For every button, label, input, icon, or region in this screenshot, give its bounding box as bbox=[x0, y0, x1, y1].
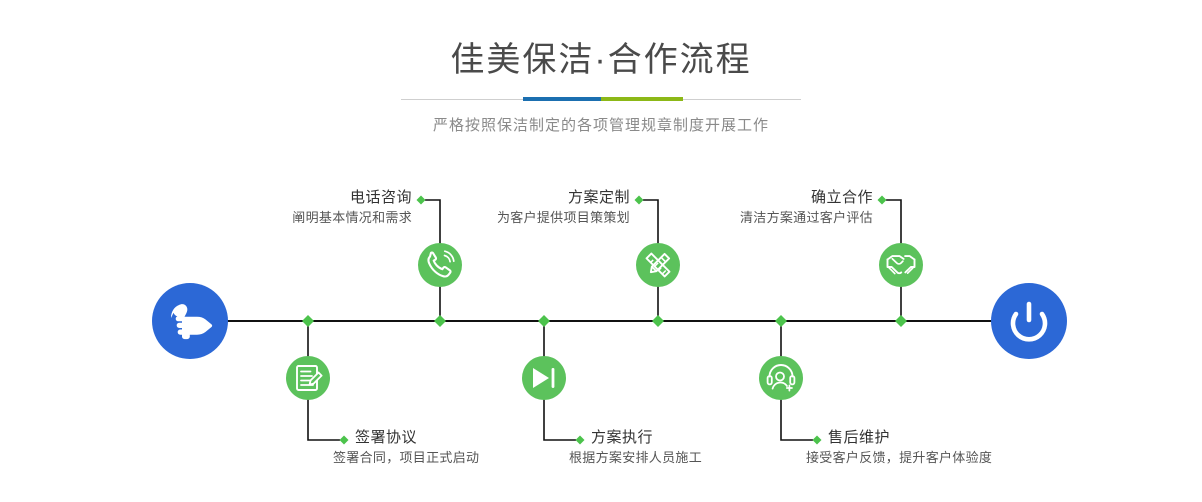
step-title-3: 方案定制 bbox=[497, 188, 630, 208]
label-diamond-3 bbox=[635, 196, 644, 205]
step-title-4: 方案执行 bbox=[591, 428, 724, 448]
step-title-5: 确立合作 bbox=[740, 188, 873, 208]
step-label-5: 确立合作 清洁方案通过客户评估 bbox=[740, 188, 873, 228]
step-label-3: 方案定制 为客户提供项目策策划 bbox=[497, 188, 630, 228]
step-icon-1[interactable] bbox=[418, 243, 462, 287]
flow-end-endpoint[interactable] bbox=[991, 283, 1067, 359]
node-diamond-3 bbox=[652, 315, 664, 327]
flow-svg bbox=[0, 0, 1202, 502]
label-diamond-5 bbox=[878, 196, 887, 205]
step-label-2: 签署协议 签署合同，项目正式启动 bbox=[355, 428, 501, 468]
node-diamond-4 bbox=[538, 315, 550, 327]
step-icon-4[interactable] bbox=[522, 356, 566, 400]
step-title-1: 电话咨询 bbox=[292, 188, 412, 208]
step-icon-2[interactable] bbox=[286, 356, 330, 400]
step-icon-5[interactable] bbox=[879, 243, 923, 287]
step-title-6: 售后维护 bbox=[828, 428, 1014, 448]
label-diamond-6 bbox=[813, 436, 822, 445]
node-diamond-6 bbox=[775, 315, 787, 327]
step-title-2: 签署协议 bbox=[355, 428, 501, 448]
step-icon-6[interactable] bbox=[759, 356, 803, 400]
flow-start-endpoint[interactable] bbox=[152, 283, 228, 359]
label-diamond-4 bbox=[576, 436, 585, 445]
step-label-1: 电话咨询 阐明基本情况和需求 bbox=[292, 188, 412, 228]
step-label-4: 方案执行 根据方案安排人员施工 bbox=[591, 428, 724, 468]
node-diamond-5 bbox=[895, 315, 907, 327]
step-subtitle-1: 阐明基本情况和需求 bbox=[292, 208, 412, 228]
node-diamond-2 bbox=[302, 315, 314, 327]
step-subtitle-3: 为客户提供项目策策划 bbox=[497, 208, 630, 228]
step-subtitle-4: 根据方案安排人员施工 bbox=[569, 448, 702, 468]
label-diamond-1 bbox=[417, 196, 426, 205]
flow-diagram: 电话咨询 阐明基本情况和需求 方案定制 为客户提供项目策策划 确立合作 清洁方案… bbox=[0, 0, 1202, 502]
label-diamond-2 bbox=[340, 436, 349, 445]
step-subtitle-2: 签署合同，项目正式启动 bbox=[333, 448, 479, 468]
step-icon-3[interactable] bbox=[636, 243, 680, 287]
step-subtitle-5: 清洁方案通过客户评估 bbox=[740, 208, 873, 228]
process-flow-infographic: 佳美保洁·合作流程 严格按照保洁制定的各项管理规章制度开展工作 bbox=[0, 0, 1202, 502]
step-subtitle-6: 接受客户反馈，提升客户体验度 bbox=[806, 448, 992, 468]
node-diamond-1 bbox=[434, 315, 446, 327]
step-label-6: 售后维护 接受客户反馈，提升客户体验度 bbox=[828, 428, 1014, 468]
